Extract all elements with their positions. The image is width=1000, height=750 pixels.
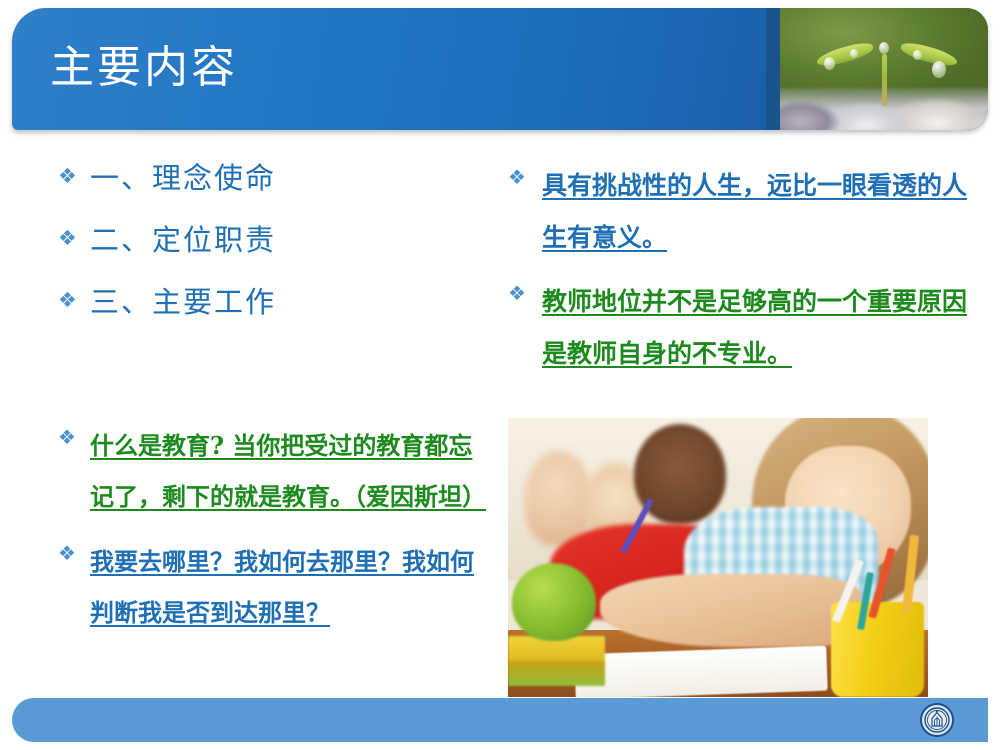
page-title: 主要内容 bbox=[50, 38, 238, 98]
dewdrop-icon bbox=[913, 50, 922, 60]
seedling-stem bbox=[882, 54, 887, 106]
agenda-item-label: 一、理念使命 bbox=[90, 158, 448, 198]
quote-list-top-right: ❖ 具有挑战性的人生，远比一眼看透的人生有意义。 ❖ 教师地位并不是足够高的一个… bbox=[508, 160, 968, 392]
diamond-bullet-icon: ❖ bbox=[58, 420, 90, 447]
stack-of-books bbox=[508, 636, 605, 686]
quote-item[interactable]: ❖ 什么是教育? 当你把受过的教育都忘记了，剩下的就是教育。（爱因斯坦） bbox=[58, 420, 488, 522]
dewdrop-icon bbox=[879, 42, 889, 54]
quote-text: 具有挑战性的人生，远比一眼看透的人生有意义。 bbox=[542, 160, 968, 264]
agenda-item-label: 三、主要工作 bbox=[90, 282, 448, 322]
agenda-item-1[interactable]: ❖ 一、理念使命 bbox=[58, 158, 448, 198]
notebook-paper bbox=[574, 645, 827, 697]
green-apple-icon bbox=[512, 563, 596, 641]
seedling-photo bbox=[780, 8, 988, 130]
quote-item[interactable]: ❖ 具有挑战性的人生，远比一眼看透的人生有意义。 bbox=[508, 160, 968, 264]
agenda-item-2[interactable]: ❖ 二、定位职责 bbox=[58, 220, 448, 260]
quote-text: 什么是教育? 当你把受过的教育都忘记了，剩下的就是教育。（爱因斯坦） bbox=[90, 420, 488, 522]
agenda-list: ❖ 一、理念使命 ❖ 二、定位职责 ❖ 三、主要工作 bbox=[58, 158, 448, 344]
diamond-bullet-icon: ❖ bbox=[58, 158, 90, 187]
background-child-1 bbox=[525, 451, 592, 546]
dewdrop-icon bbox=[824, 57, 835, 70]
quote-text: 教师地位并不是足够高的一个重要原因是教师自身的不专业。 bbox=[542, 276, 968, 380]
slide-canvas: 主要内容 ❖ 一、理念使命 ❖ 二、定位职责 ❖ 三、主要工作 bbox=[0, 0, 1000, 750]
quote-item[interactable]: ❖ 我要去哪里？我如何去那里？我如何判断我是否到达那里？ bbox=[58, 536, 488, 638]
agenda-item-label: 二、定位职责 bbox=[90, 220, 448, 260]
slide-header-banner: 主要内容 bbox=[12, 8, 988, 130]
dewdrop-icon bbox=[932, 61, 946, 78]
school-emblem-logo bbox=[920, 703, 954, 737]
dewdrop-icon bbox=[850, 49, 858, 58]
slide-footer-bar bbox=[12, 698, 988, 742]
yellow-pencil-cup bbox=[831, 602, 923, 697]
diamond-bullet-icon: ❖ bbox=[58, 536, 90, 563]
header-divider bbox=[766, 8, 780, 130]
classroom-photo bbox=[508, 418, 928, 697]
quote-text: 我要去哪里？我如何去那里？我如何判断我是否到达那里？ bbox=[90, 536, 488, 638]
diamond-bullet-icon: ❖ bbox=[58, 282, 90, 311]
quote-item[interactable]: ❖ 教师地位并不是足够高的一个重要原因是教师自身的不专业。 bbox=[508, 276, 968, 380]
diamond-bullet-icon: ❖ bbox=[58, 220, 90, 249]
quote-list-bottom-left: ❖ 什么是教育? 当你把受过的教育都忘记了，剩下的就是教育。（爱因斯坦） ❖ 我… bbox=[58, 420, 488, 652]
agenda-item-3[interactable]: ❖ 三、主要工作 bbox=[58, 282, 448, 322]
foreground-girl-arm bbox=[600, 574, 860, 647]
diamond-bullet-icon: ❖ bbox=[508, 276, 542, 303]
diamond-bullet-icon: ❖ bbox=[508, 160, 542, 187]
